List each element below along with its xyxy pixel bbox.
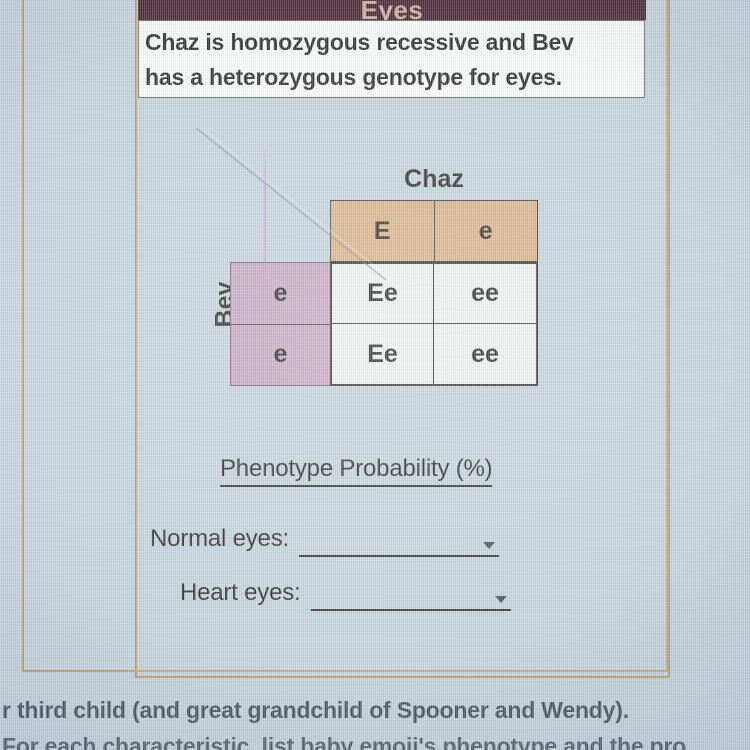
chevron-down-icon[interactable] [483, 542, 495, 549]
top-allele-cell: E [331, 201, 434, 261]
section-title: Eyes [138, 0, 646, 20]
phenotype-row-normal-eyes: Normal eyes: [150, 525, 570, 557]
prompt-line-2: has a heterozygous genotype for eyes. [145, 60, 638, 95]
normal-eyes-dropdown[interactable] [299, 525, 499, 557]
side-allele-cell: e [231, 324, 330, 386]
phenotype-label-heart-eyes: Heart eyes: [180, 579, 301, 611]
offspring-cell: ee [434, 264, 536, 324]
chevron-down-icon[interactable] [495, 596, 507, 603]
top-allele-cell: e [434, 201, 538, 261]
prompt-line-1: Chaz is homozygous recessive and Bev [145, 25, 638, 60]
heart-eyes-dropdown[interactable] [311, 579, 511, 611]
instructions-line-2: For each characteristic, list baby emoji… [0, 728, 750, 750]
offspring-cell: Ee [332, 324, 434, 384]
punnett-top-parent-label: Chaz [330, 165, 538, 194]
phenotype-label-normal-eyes: Normal eyes: [150, 525, 289, 557]
punnett-top-allele-row: E e [330, 200, 538, 262]
side-allele-cell: e [231, 263, 330, 324]
punnett-offspring-grid: Ee ee Ee ee [330, 262, 538, 386]
instructions-line-1: r third child (and great grandchild of S… [0, 692, 750, 728]
phenotype-row-heart-eyes: Heart eyes: [150, 579, 570, 611]
offspring-cell: Ee [332, 264, 434, 324]
worksheet-instructions: r third child (and great grandchild of S… [0, 692, 750, 750]
prompt-text-box: Chaz is homozygous recessive and Bev has… [138, 20, 645, 98]
section-header-bar: Eyes [138, 0, 646, 20]
offspring-cell: ee [434, 324, 536, 384]
phenotype-probability-heading: Phenotype Probability (%) [220, 455, 492, 487]
punnett-square: Chaz Bev E e e e Ee ee Ee ee [196, 160, 556, 395]
punnett-side-allele-column: e e [230, 262, 331, 386]
phenotype-probability-section: Phenotype Probability (%) Normal eyes: H… [150, 455, 570, 611]
